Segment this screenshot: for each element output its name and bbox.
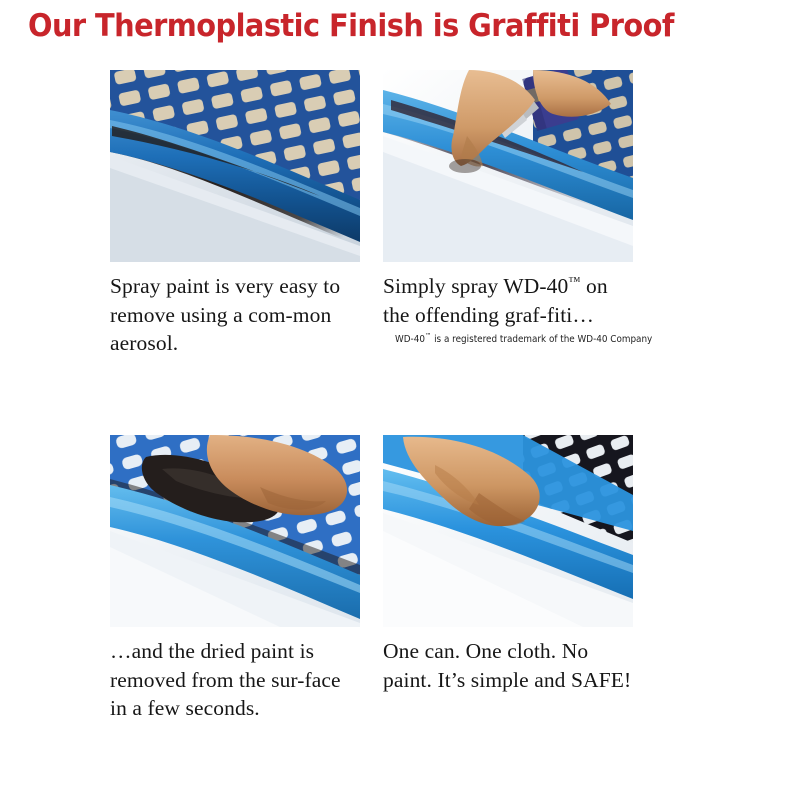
panel-caption: Spray paint is very easy to remove using…	[110, 272, 362, 358]
panel-bottom-left: …and the dried paint is removed from the…	[110, 435, 360, 723]
page-title: Our Thermoplastic Finish is Graffiti Pro…	[28, 8, 679, 44]
clean-rail-photo	[383, 435, 633, 627]
trademark-footnote: WD-40™ is a registered trademark of the …	[395, 332, 614, 346]
panel-caption-text: Simply spray WD-40™ on the offending gra…	[383, 274, 608, 327]
wiping-with-cloth-photo	[110, 435, 360, 627]
graffiti-on-blue-mesh-photo	[110, 70, 360, 262]
spraying-wd40-photo	[383, 70, 633, 262]
panel-top-right: Simply spray WD-40™ on the offending gra…	[383, 70, 633, 346]
panel-bottom-right: One can. One cloth. No paint. It’s simpl…	[383, 435, 633, 694]
panel-caption: One can. One cloth. No paint. It’s simpl…	[383, 637, 635, 694]
panel-caption: Simply spray WD-40™ on the offending gra…	[383, 272, 635, 329]
panel-caption: …and the dried paint is removed from the…	[110, 637, 362, 723]
panel-top-left: Spray paint is very easy to remove using…	[110, 70, 360, 358]
